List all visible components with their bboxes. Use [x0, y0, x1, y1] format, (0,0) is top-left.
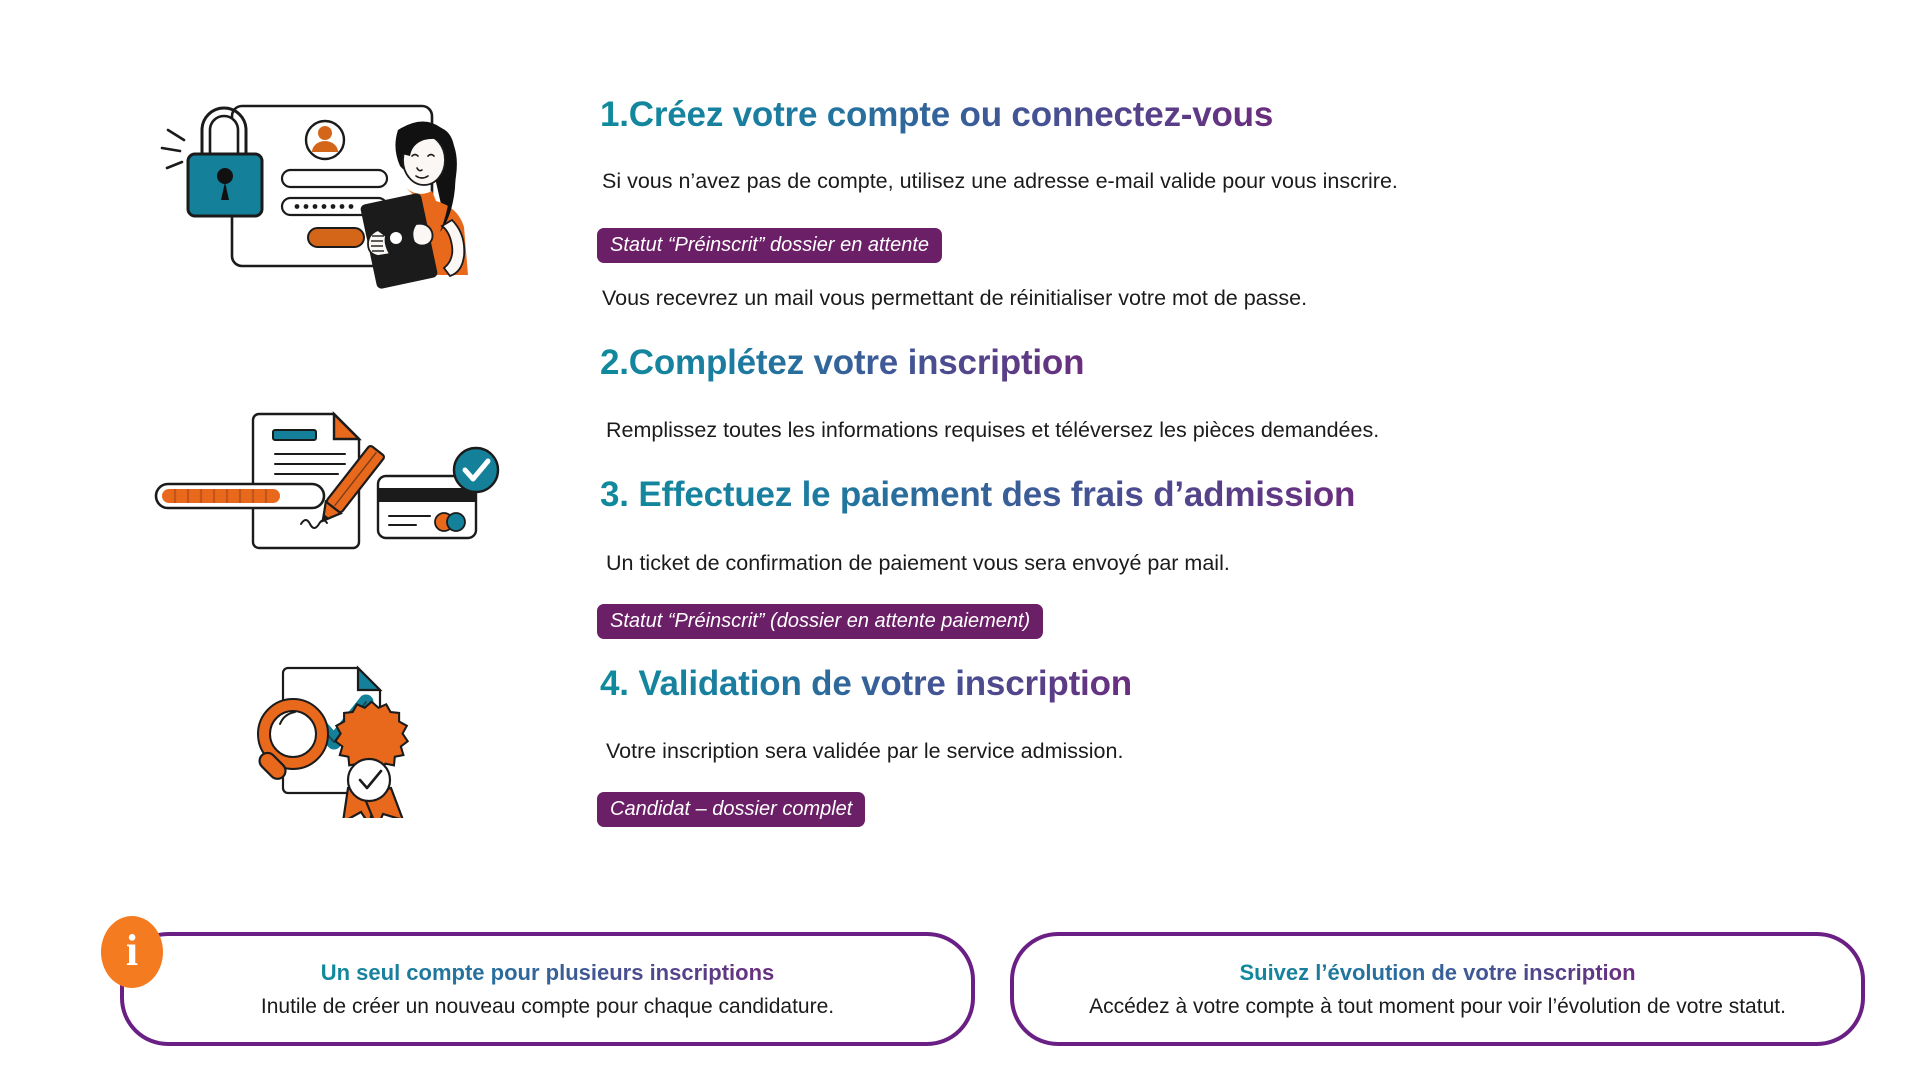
callout-single-account-subtitle: Inutile de créer un nouveau compte pour … [261, 995, 834, 1019]
info-icon: i [101, 916, 163, 988]
callout-track-progress-subtitle: Accédez à votre compte à tout moment pou… [1089, 995, 1786, 1019]
validation-illustration [236, 658, 466, 818]
info-icon-glyph: i [126, 929, 138, 973]
callout-track-progress[interactable]: Suivez l’évolution de votre inscription … [1010, 932, 1865, 1046]
step-2-title: 2.Complétez votre inscription [600, 343, 1084, 383]
callout-track-progress-title: Suivez l’évolution de votre inscription [1239, 960, 1635, 986]
callout-single-account[interactable]: Un seul compte pour plusieurs inscriptio… [120, 932, 975, 1046]
step-3-description: Un ticket de confirmation de paiement vo… [606, 551, 1230, 576]
step-1-status-badge: Statut “Préinscrit” dossier en attente [597, 228, 942, 263]
document-payment-illustration [138, 392, 538, 572]
step-3-status-badge: Statut “Préinscrit” (dossier en attente … [597, 604, 1043, 639]
page-root: 1.Créez votre compte ou connectez-vous S… [0, 0, 1920, 1080]
lock-login-illustration [140, 78, 540, 298]
step-2-description: Remplissez toutes les informations requi… [606, 418, 1379, 443]
step-3-title: 3. Effectuez le paiement des frais d’adm… [600, 475, 1355, 515]
step-1-description: Si vous n’avez pas de compte, utilisez u… [602, 169, 1398, 194]
callout-single-account-title: Un seul compte pour plusieurs inscriptio… [321, 960, 775, 986]
step-1-note: Vous recevrez un mail vous permettant de… [602, 286, 1307, 311]
step-4-status-badge: Candidat – dossier complet [597, 792, 865, 827]
step-4-title: 4. Validation de votre inscription [600, 664, 1132, 704]
step-1-title: 1.Créez votre compte ou connectez-vous [600, 95, 1273, 135]
step-4-description: Votre inscription sera validée par le se… [606, 739, 1123, 764]
